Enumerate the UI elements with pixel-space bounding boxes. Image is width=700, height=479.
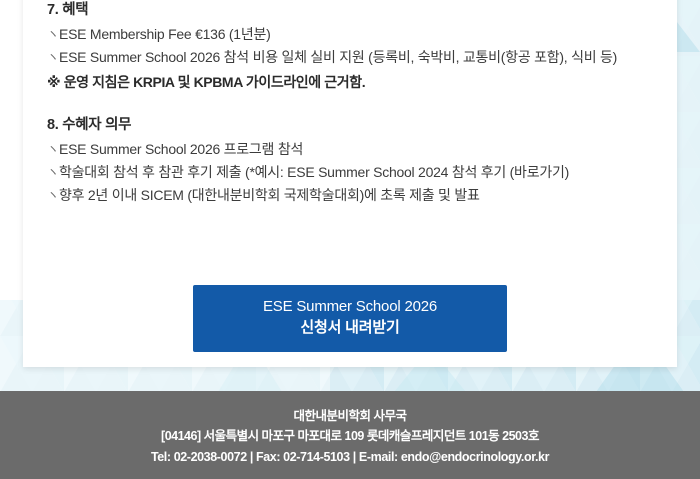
bullet-marker-icon: ヽ <box>47 140 59 160</box>
benefits-bullet-2: ヽESE Summer School 2026 참석 비용 일체 실비 지원 (… <box>47 46 659 69</box>
content-card: 7. 혜택 ヽESE Membership Fee €136 (1년분) ヽES… <box>23 0 677 367</box>
bullet-marker-icon: ヽ <box>47 48 59 68</box>
content-body: 7. 혜택 ヽESE Membership Fee €136 (1년분) ヽES… <box>47 0 659 208</box>
cta-line-2: 신청서 내려받기 <box>193 317 507 338</box>
site-footer: 대한내분비학회 사무국 [04146] 서울특별시 마포구 마포대로 109 롯… <box>0 391 700 479</box>
section-benefits: 7. 혜택 ヽESE Membership Fee €136 (1년분) ヽES… <box>47 0 659 94</box>
section-obligations: 8. 수혜자 의무 ヽESE Summer School 2026 프로그램 참… <box>47 115 659 208</box>
footer-contact: Tel: 02-2038-0072 | Fax: 02-714-5103 | E… <box>0 447 700 468</box>
page-root: 7. 혜택 ヽESE Membership Fee €136 (1년분) ヽES… <box>0 0 700 479</box>
obligations-bullet-1-text: ESE Summer School 2026 프로그램 참석 <box>59 141 303 157</box>
benefits-bullet-2-text: ESE Summer School 2026 참석 비용 일체 실비 지원 (등… <box>59 49 617 65</box>
footer-organization: 대한내분비학회 사무국 <box>0 391 700 426</box>
download-application-button[interactable]: ESE Summer School 2026 신청서 내려받기 <box>193 285 507 352</box>
benefits-bullet-1-text: ESE Membership Fee €136 (1년분) <box>59 26 271 42</box>
bullet-marker-icon: ヽ <box>47 25 59 45</box>
obligations-bullet-2: ヽ학술대회 참석 후 참관 후기 제출 (*예시: ESE Summer Sch… <box>47 161 659 184</box>
section-obligations-heading: 8. 수혜자 의무 <box>47 115 659 136</box>
footer-address: [04146] 서울특별시 마포구 마포대로 109 롯데캐슬프레지던트 101… <box>0 426 700 447</box>
benefits-bullet-1: ヽESE Membership Fee €136 (1년분) <box>47 23 659 46</box>
section-spacer <box>47 94 659 115</box>
benefits-guideline-note: ※ 운영 지침은 KRPIA 및 KPBMA 가이드라인에 근거함. <box>47 71 659 93</box>
cta-container: ESE Summer School 2026 신청서 내려받기 <box>23 285 677 352</box>
bullet-marker-icon: ヽ <box>47 163 59 183</box>
cta-line-1: ESE Summer School 2026 <box>193 296 507 317</box>
obligations-bullet-1: ヽESE Summer School 2026 프로그램 참석 <box>47 138 659 161</box>
obligations-bullet-2-text: 학술대회 참석 후 참관 후기 제출 (*예시: ESE Summer Scho… <box>59 164 569 180</box>
bullet-marker-icon: ヽ <box>47 186 59 206</box>
obligations-bullet-3-text: 향후 2년 이내 SICEM (대한내분비학회 국제학술대회)에 초록 제출 및… <box>59 187 480 203</box>
section-benefits-heading: 7. 혜택 <box>47 0 659 21</box>
obligations-bullet-3: ヽ향후 2년 이내 SICEM (대한내분비학회 국제학술대회)에 초록 제출 … <box>47 184 659 207</box>
